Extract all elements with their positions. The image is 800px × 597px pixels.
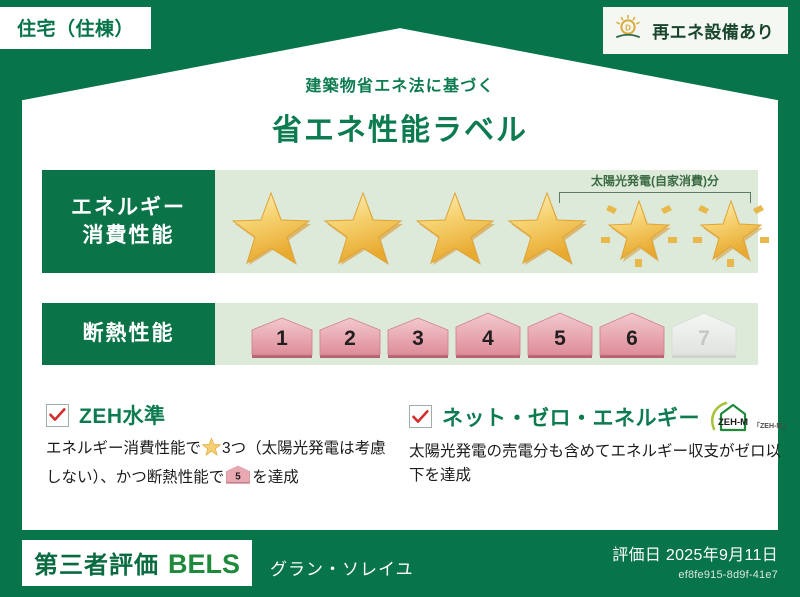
- energy-performance-row: エネルギー 消費性能 太陽光発電(自家消費)分: [42, 170, 758, 273]
- insulation-level-value: 2: [317, 327, 383, 351]
- energy-label-line2: 消費性能: [83, 222, 175, 249]
- check-icon: [412, 410, 429, 424]
- footer: 第三者評価 BELS グラン・ソレイユ 評価日 2025年9月11日 ef8fe…: [0, 530, 800, 597]
- criterion-zeh-header: ZEH水準: [46, 400, 399, 430]
- star-icon: [319, 183, 407, 267]
- insulation-level-1: 1: [249, 317, 315, 358]
- star-solar-icon: [687, 183, 775, 267]
- insulation-level-value: 4: [453, 327, 523, 351]
- zeh-standard-description: エネルギー消費性能で 3つ（太陽光発電は考慮しない）、かつ断熱性能で 5 を達成: [46, 437, 399, 493]
- star-icon: [411, 183, 499, 267]
- criterion-zeh-standard: ZEH水準 エネルギー消費性能で 3つ（太陽光発電は考慮しない）、かつ断熱性能で…: [46, 400, 399, 493]
- evaluation-info: 評価日 2025年9月11日 ef8fe915-8d9f-41e7: [612, 541, 778, 581]
- insulation-level-value: 1: [249, 327, 315, 351]
- energy-performance-label: 住宅（住棟） D 再エネ設備あり 建築物省エネ法に基づく 省エネ性能ラベル: [0, 0, 800, 597]
- star-solar-icon: [595, 183, 683, 267]
- insulation-level-value: 5: [525, 327, 595, 351]
- insulation-performance-row: 断熱性能 1: [42, 303, 758, 365]
- title-block: 建築物省エネ法に基づく 省エネ性能ラベル: [0, 72, 800, 149]
- energy-performance-body: 太陽光発電(自家消費)分: [215, 170, 775, 273]
- zeh-standard-checkbox[interactable]: [46, 404, 69, 427]
- criteria-section: ZEH水準 エネルギー消費性能で 3つ（太陽光発電は考慮しない）、かつ断熱性能で…: [46, 400, 756, 493]
- insulation-performance-label-cell: 断熱性能: [42, 303, 215, 365]
- net-zero-checkbox[interactable]: [409, 405, 432, 428]
- insulation-badge-icon: 5: [225, 464, 251, 493]
- insulation-level-3: 3: [385, 317, 451, 358]
- insulation-level-value: 3: [385, 327, 451, 351]
- star-icon: [202, 437, 221, 464]
- inline-insulation-value: 5: [236, 472, 242, 483]
- criterion-net-zero-header: ネット・ゼロ・エネルギー ZEH-M 「ZEH-M」: [409, 400, 789, 433]
- insulation-level-value: 6: [597, 327, 667, 351]
- zeh-m-caption: 「ZEH-M」: [753, 421, 789, 431]
- energy-star-rating: [215, 183, 775, 267]
- building-type-chip: 住宅（住棟）: [0, 7, 151, 49]
- zeh-desc-part3: を達成: [252, 469, 299, 486]
- zeh-m-text: ZEH-M: [718, 417, 748, 428]
- star-icon: [503, 183, 591, 267]
- insulation-level-6: 6: [597, 312, 667, 358]
- bels-japanese-label: 第三者評価: [34, 545, 159, 580]
- zeh-desc-part1: エネルギー消費性能で: [46, 440, 201, 457]
- insulation-label: 断熱性能: [83, 320, 175, 347]
- energy-label-line1: エネルギー: [71, 194, 186, 221]
- insulation-level-2: 2: [317, 317, 383, 358]
- label-subtitle: 建築物省エネ法に基づく: [0, 72, 800, 96]
- insulation-level-7: 7: [669, 312, 739, 358]
- bels-logo-text: BELS: [168, 549, 240, 580]
- net-zero-description: 太陽光発電の売電分も含めてエネルギー収支がゼロ以下を達成: [409, 440, 789, 488]
- insulation-level-scale: 1 2 3: [215, 303, 739, 365]
- star-icon: [227, 183, 315, 267]
- insulation-performance-body: 1 2 3: [215, 303, 758, 365]
- bels-badge: 第三者評価 BELS: [22, 540, 252, 586]
- page-title: 省エネ性能ラベル: [0, 105, 800, 149]
- zeh-standard-title: ZEH水準: [79, 400, 166, 430]
- evaluation-id: ef8fe915-8d9f-41e7: [612, 569, 778, 581]
- check-icon: [49, 408, 66, 422]
- insulation-level-5: 5: [525, 312, 595, 358]
- svg-text:D: D: [625, 23, 631, 32]
- net-zero-title: ネット・ゼロ・エネルギー: [442, 402, 700, 432]
- solar-sun-icon: D: [613, 13, 643, 48]
- insulation-level-value: 7: [669, 327, 739, 351]
- evaluation-date: 評価日 2025年9月11日: [612, 541, 778, 565]
- criterion-net-zero-energy: ネット・ゼロ・エネルギー ZEH-M 「ZEH-M」 太陽光発電の売電分も含めて…: [409, 400, 789, 493]
- insulation-level-4: 4: [453, 312, 523, 358]
- building-type-label: 住宅（住棟）: [17, 19, 134, 40]
- renewable-equipment-badge: D 再エネ設備あり: [603, 7, 788, 54]
- building-name: グラン・ソレイユ: [270, 555, 414, 580]
- zeh-m-logo: ZEH-M 「ZEH-M」: [708, 400, 789, 433]
- energy-performance-label-cell: エネルギー 消費性能: [42, 170, 215, 273]
- renewable-badge-label: 再エネ設備あり: [652, 18, 774, 43]
